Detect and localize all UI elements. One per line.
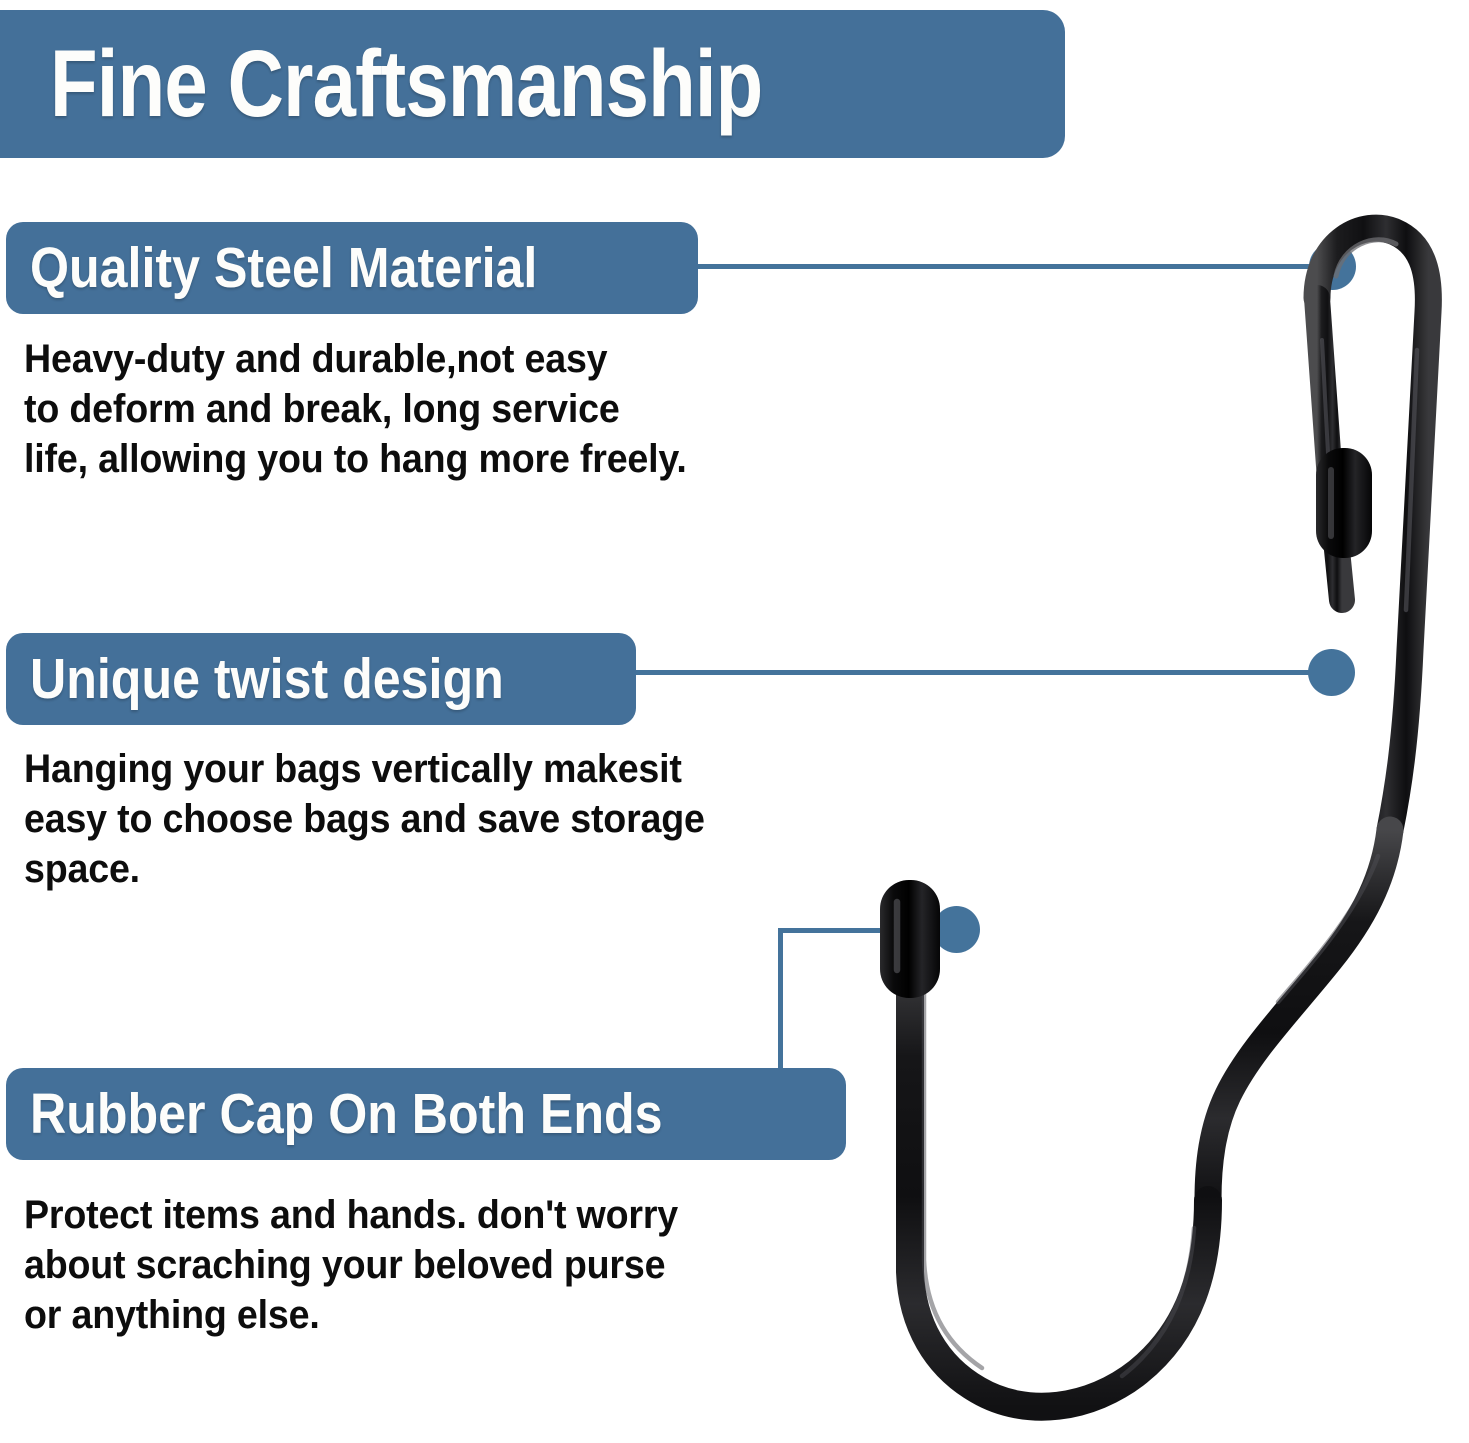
rubber-cap-bottom bbox=[880, 880, 940, 998]
feature-description-unique-twist-design: Hanging your bags vertically makesit eas… bbox=[24, 744, 832, 894]
hook-bottom-u bbox=[910, 940, 1208, 1407]
hook-bottom-u-highlight-left bbox=[924, 970, 982, 1368]
infographic-canvas: Fine Craftsmanship Quality Steel Materia… bbox=[0, 0, 1469, 1443]
feature-badge-quality-steel-material: Quality Steel Material bbox=[6, 222, 698, 314]
feature-label: Rubber Cap On Both Ends bbox=[30, 1086, 663, 1143]
product-image-s-hook bbox=[850, 180, 1469, 1443]
connector-line-feature-3-vertical bbox=[778, 928, 783, 1070]
feature-badge-rubber-cap-on-both-ends: Rubber Cap On Both Ends bbox=[6, 1068, 846, 1160]
page-title: Fine Craftsmanship bbox=[50, 37, 762, 132]
feature-label: Unique twist design bbox=[30, 651, 504, 708]
rubber-cap-top bbox=[1316, 448, 1372, 558]
feature-badge-unique-twist-design: Unique twist design bbox=[6, 633, 636, 725]
feature-label: Quality Steel Material bbox=[30, 240, 537, 297]
feature-description-quality-steel-material: Heavy-duty and durable,not easy to defor… bbox=[24, 334, 832, 484]
feature-description-rubber-cap-on-both-ends: Protect items and hands. don't worry abo… bbox=[24, 1190, 832, 1340]
s-hook-illustration bbox=[850, 180, 1469, 1443]
page-title-banner: Fine Craftsmanship bbox=[0, 10, 1065, 158]
